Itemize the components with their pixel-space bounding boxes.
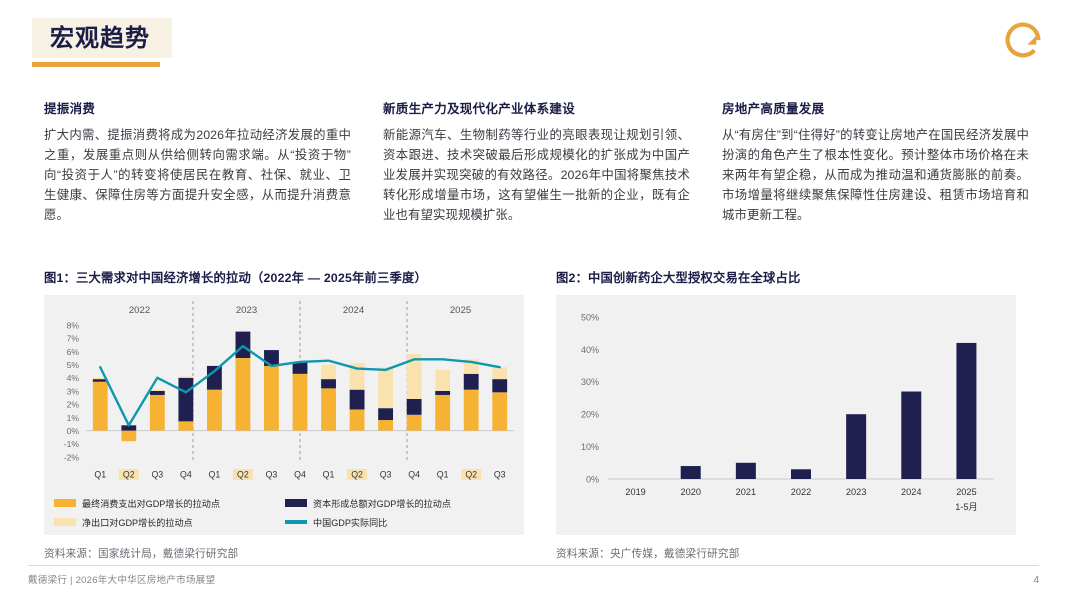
svg-text:2020: 2020: [680, 487, 700, 497]
svg-text:Q1: Q1: [323, 470, 335, 480]
svg-text:-2%: -2%: [64, 452, 80, 462]
svg-text:Q1: Q1: [437, 470, 449, 480]
svg-text:2024: 2024: [343, 305, 365, 316]
svg-text:40%: 40%: [581, 345, 599, 355]
figure-2-panel: 0%10%20%30%40%50%20192020202120222023202…: [556, 295, 1016, 535]
figure-1-panel: -2%-1%0%1%2%3%4%5%6%7%8%2022202320242025…: [44, 295, 524, 535]
legend-item: 净出口对GDP增长的拉动点: [54, 515, 285, 529]
svg-text:Q1: Q1: [94, 470, 106, 480]
svg-text:3%: 3%: [67, 386, 80, 396]
svg-text:2025: 2025: [450, 305, 471, 316]
footer-label: 戴德梁行 | 2026年大中华区房地产市场展望: [28, 572, 215, 586]
figure-2: 图2：中国创新药企大型授权交易在全球占比 0%10%20%30%40%50%20…: [556, 268, 1016, 561]
footer-divider: [28, 565, 1039, 566]
column-heading: 提振消费: [44, 98, 351, 117]
svg-text:2023: 2023: [236, 305, 257, 316]
svg-text:Q3: Q3: [266, 470, 278, 480]
svg-text:8%: 8%: [67, 320, 80, 330]
body-columns: 提振消费 扩大内需、提振消费将成为2026年拉动经济发展的重中之重，发展重点则从…: [44, 98, 1029, 225]
column-body: 新能源汽车、生物制药等行业的亮眼表现让规划引领、资本跟进、技术突破最后形成规模化…: [383, 125, 690, 225]
svg-text:2024: 2024: [901, 487, 921, 497]
svg-text:2023: 2023: [846, 487, 866, 497]
figure-2-title: 图2：中国创新药企大型授权交易在全球占比: [556, 268, 1016, 286]
column-heading: 房地产高质量发展: [722, 98, 1029, 117]
legend-label: 最终消费支出对GDP增长的拉动点: [82, 496, 220, 510]
svg-text:Q1: Q1: [209, 470, 221, 480]
legend-label: 净出口对GDP增长的拉动点: [82, 515, 193, 529]
svg-text:4%: 4%: [67, 373, 80, 383]
legend-color-swatch: [285, 499, 307, 507]
figure-2-source: 资料来源：央广传媒，戴德梁行研究部: [556, 546, 1016, 561]
svg-text:2025: 2025: [956, 487, 976, 497]
column-real-estate: 房地产高质量发展 从“有房住”到“住得好”的转变让房地产在国民经济发展中扮演的角…: [722, 98, 1029, 225]
svg-text:Q4: Q4: [180, 470, 192, 480]
column-new-productive-forces: 新质生产力及现代化产业体系建设 新能源汽车、生物制药等行业的亮眼表现让规划引领、…: [383, 98, 690, 225]
svg-text:6%: 6%: [67, 347, 80, 357]
figure-1-source: 资料来源：国家统计局，戴德梁行研究部: [44, 546, 524, 561]
svg-text:2021: 2021: [736, 487, 756, 497]
column-consumption: 提振消费 扩大内需、提振消费将成为2026年拉动经济发展的重中之重，发展重点则从…: [44, 98, 351, 225]
svg-text:30%: 30%: [581, 377, 599, 387]
svg-text:2022: 2022: [791, 487, 811, 497]
title-underline-rule: [32, 62, 160, 67]
column-heading: 新质生产力及现代化产业体系建设: [383, 98, 690, 117]
svg-text:2019: 2019: [625, 487, 645, 497]
legend-line-swatch: [285, 520, 307, 524]
svg-text:50%: 50%: [581, 312, 599, 322]
column-body: 从“有房住”到“住得好”的转变让房地产在国民经济发展中扮演的角色产生了根本性变化…: [722, 125, 1029, 225]
svg-text:Q3: Q3: [380, 470, 392, 480]
svg-text:Q2: Q2: [237, 470, 249, 480]
svg-text:2022: 2022: [129, 305, 150, 316]
svg-text:0%: 0%: [67, 426, 80, 436]
svg-text:2%: 2%: [67, 400, 80, 410]
page-number: 4: [1033, 575, 1039, 586]
legend-item: 资本形成总额对GDP增长的拉动点: [285, 496, 516, 510]
svg-text:Q4: Q4: [408, 470, 420, 480]
svg-text:5%: 5%: [67, 360, 80, 370]
svg-text:-1%: -1%: [64, 439, 80, 449]
column-body: 扩大内需、提振消费将成为2026年拉动经济发展的重中之重，发展重点则从供给侧转向…: [44, 125, 351, 225]
svg-text:Q2: Q2: [123, 470, 135, 480]
legend-color-swatch: [54, 499, 76, 507]
legend-color-swatch: [54, 518, 76, 526]
svg-text:Q3: Q3: [494, 470, 506, 480]
chart-1-legend: 最终消费支出对GDP增长的拉动点资本形成总额对GDP增长的拉动点净出口对GDP增…: [54, 496, 516, 529]
svg-text:20%: 20%: [581, 410, 599, 420]
svg-text:1-5月: 1-5月: [955, 502, 977, 512]
slide-page: 宏观趋势 提振消费 扩大内需、提振消费将成为2026年拉动经济发展的重中之重，发…: [0, 0, 1067, 600]
page-title-block: 宏观趋势: [32, 18, 172, 58]
figure-1-title: 图1：三大需求对中国经济增长的拉动（2022年 — 2025年前三季度）: [44, 268, 524, 286]
cushman-wakefield-logo-icon: [1001, 18, 1045, 62]
svg-text:Q2: Q2: [351, 470, 363, 480]
legend-item: 中国GDP实际同比: [285, 515, 516, 529]
chart-2-svg: 0%10%20%30%40%50%20192020202120222023202…: [556, 295, 1016, 535]
svg-text:10%: 10%: [581, 442, 599, 452]
page-title: 宏观趋势: [50, 24, 150, 54]
svg-text:Q4: Q4: [294, 470, 306, 480]
svg-text:7%: 7%: [67, 334, 80, 344]
svg-text:Q3: Q3: [151, 470, 163, 480]
svg-text:0%: 0%: [586, 474, 599, 484]
legend-label: 中国GDP实际同比: [313, 515, 387, 529]
legend-label: 资本形成总额对GDP增长的拉动点: [313, 496, 451, 510]
svg-text:1%: 1%: [67, 413, 80, 423]
svg-text:Q2: Q2: [465, 470, 477, 480]
legend-item: 最终消费支出对GDP增长的拉动点: [54, 496, 285, 510]
figure-1: 图1：三大需求对中国经济增长的拉动（2022年 — 2025年前三季度） -2%…: [44, 268, 524, 561]
